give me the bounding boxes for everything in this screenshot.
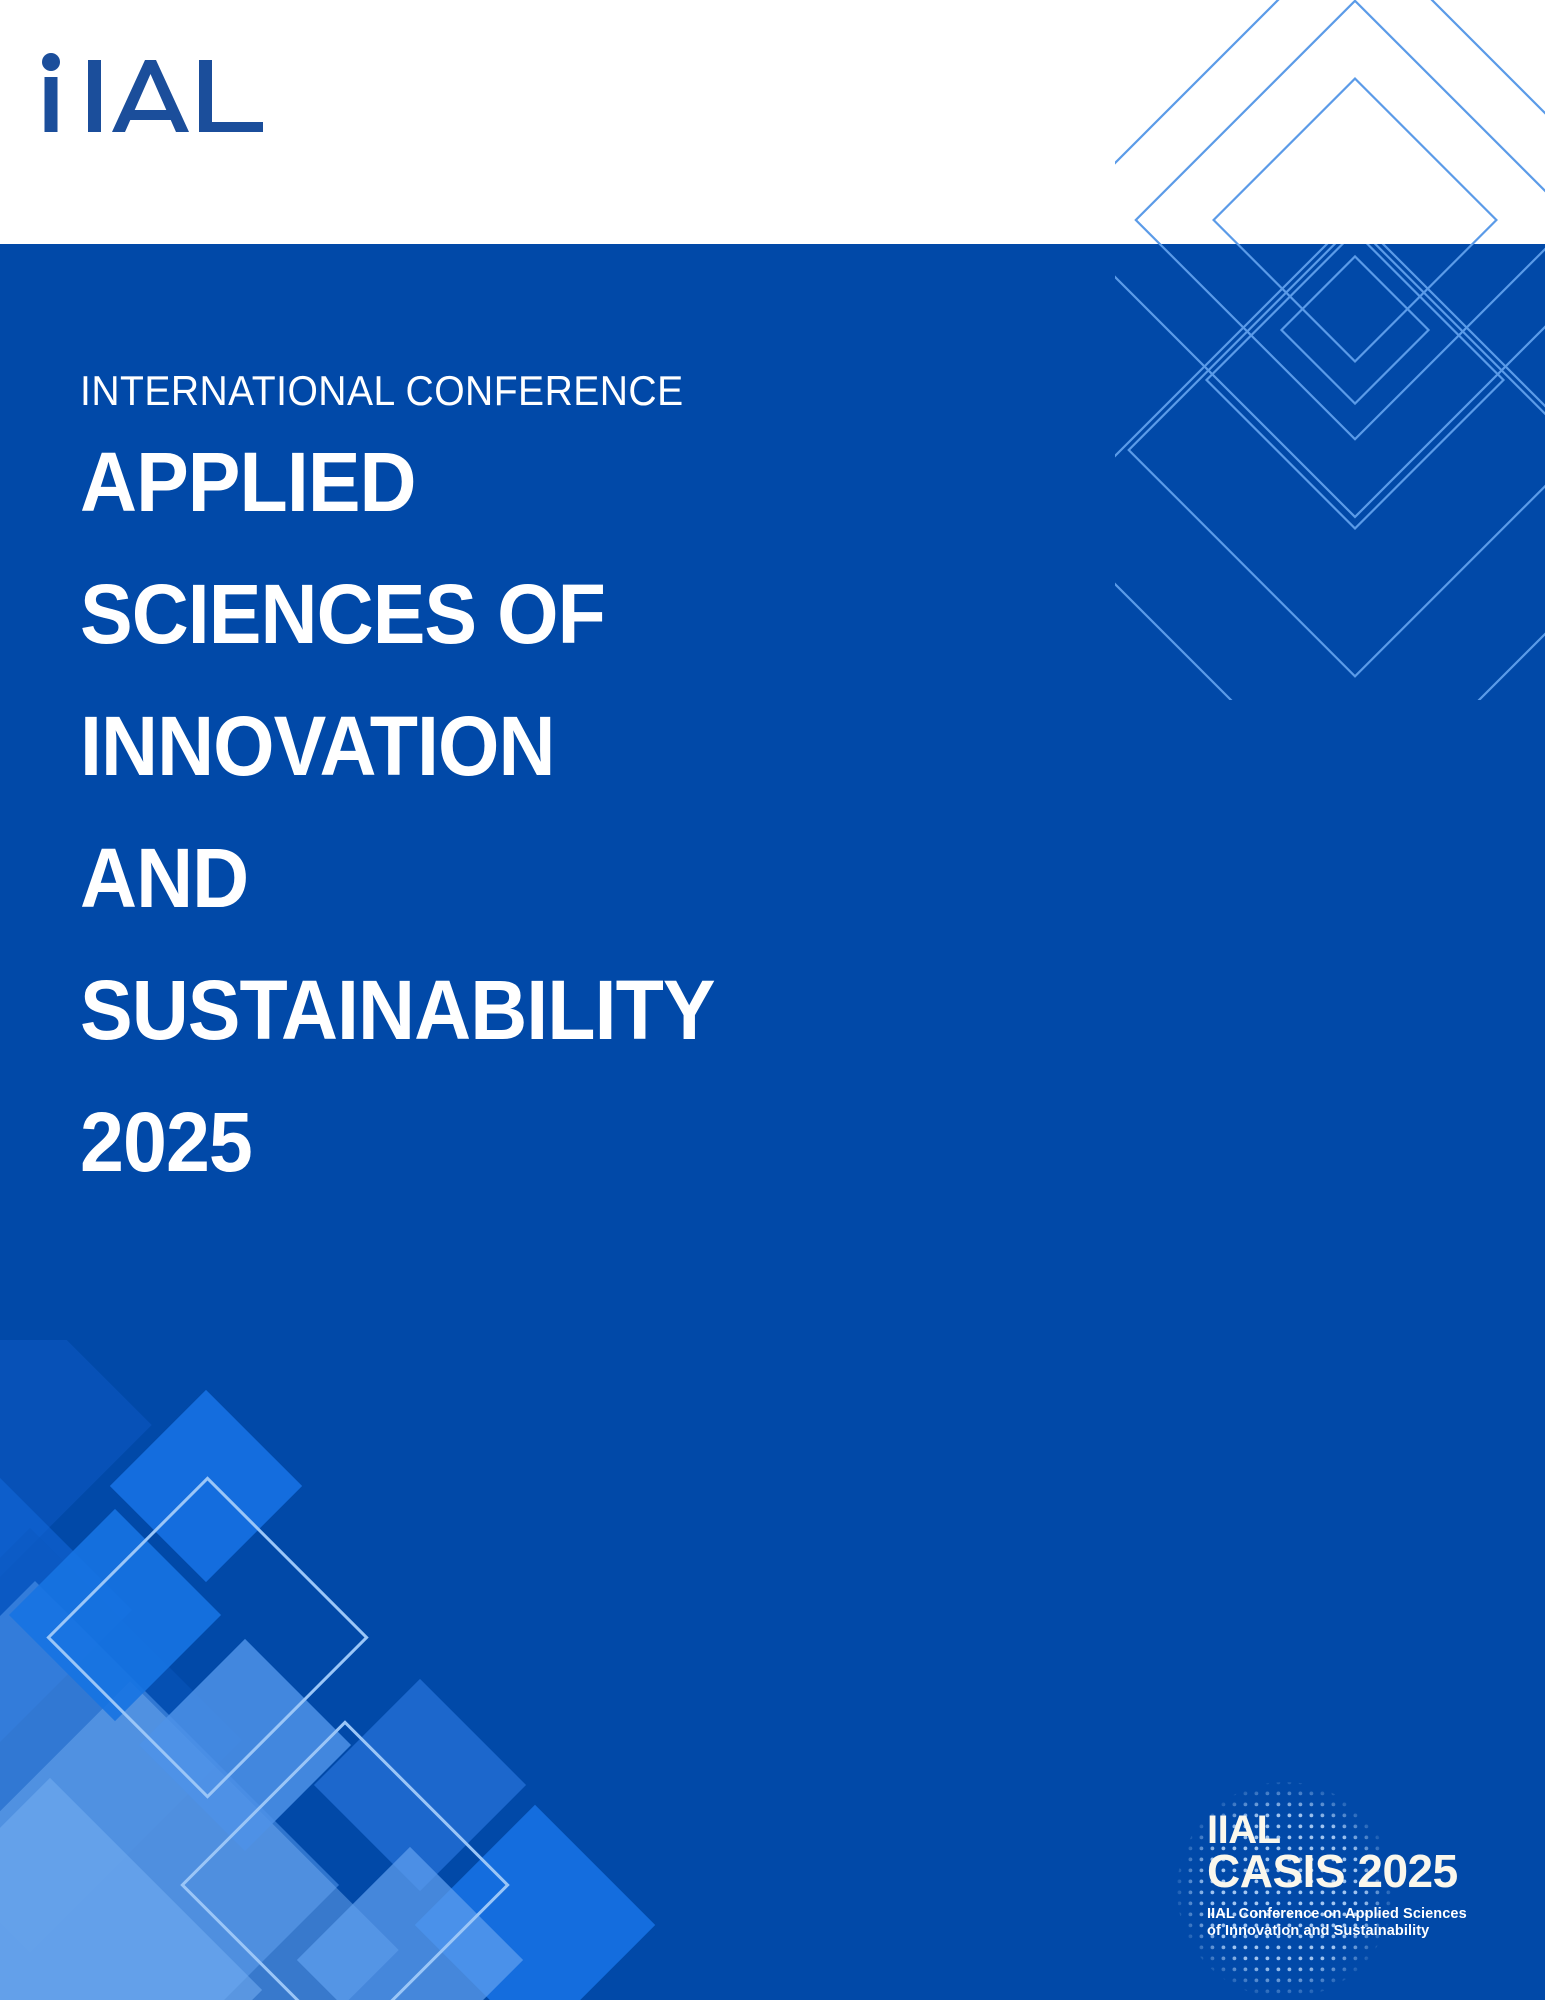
kicker-text: INTERNATIONAL CONFERENCE <box>80 370 917 412</box>
title-line-5: SUSTAINABILITY <box>80 968 926 1052</box>
title-line-1: APPLIED <box>80 440 926 524</box>
badge-tagline: IIAL Conference on Applied Sciences of I… <box>1207 1906 1545 1941</box>
conference-cover-page: INTERNATIONAL CONFERENCE APPLIED SCIENCE… <box>0 0 1545 2000</box>
iial-logo[interactable] <box>38 44 268 144</box>
badge-tagline-line-1: IIAL Conference on Applied Sciences <box>1207 1906 1545 1924</box>
bottom-left-diamond-pattern <box>0 1340 680 2000</box>
badge-line-2: CASIS 2025 <box>1207 1848 1545 1894</box>
title-line-4: AND <box>80 836 926 920</box>
badge-text-group: IIAL CASIS 2025 IIAL Conference on Appli… <box>1207 1812 1545 1941</box>
badge-tagline-line-2: of Innovation and Sustainability <box>1207 1923 1545 1941</box>
title-line-2: SCIENCES OF <box>80 572 926 656</box>
title-line-3: INNOVATION <box>80 704 926 788</box>
page-title: APPLIED SCIENCES OF INNOVATION AND SUSTA… <box>80 440 926 1184</box>
casis-badge: IIAL CASIS 2025 IIAL Conference on Appli… <box>1155 1780 1545 2000</box>
hero-title-block: INTERNATIONAL CONFERENCE APPLIED SCIENCE… <box>80 370 980 1184</box>
badge-line-1: IIAL <box>1207 1812 1545 1850</box>
title-line-6: 2025 <box>80 1100 926 1184</box>
